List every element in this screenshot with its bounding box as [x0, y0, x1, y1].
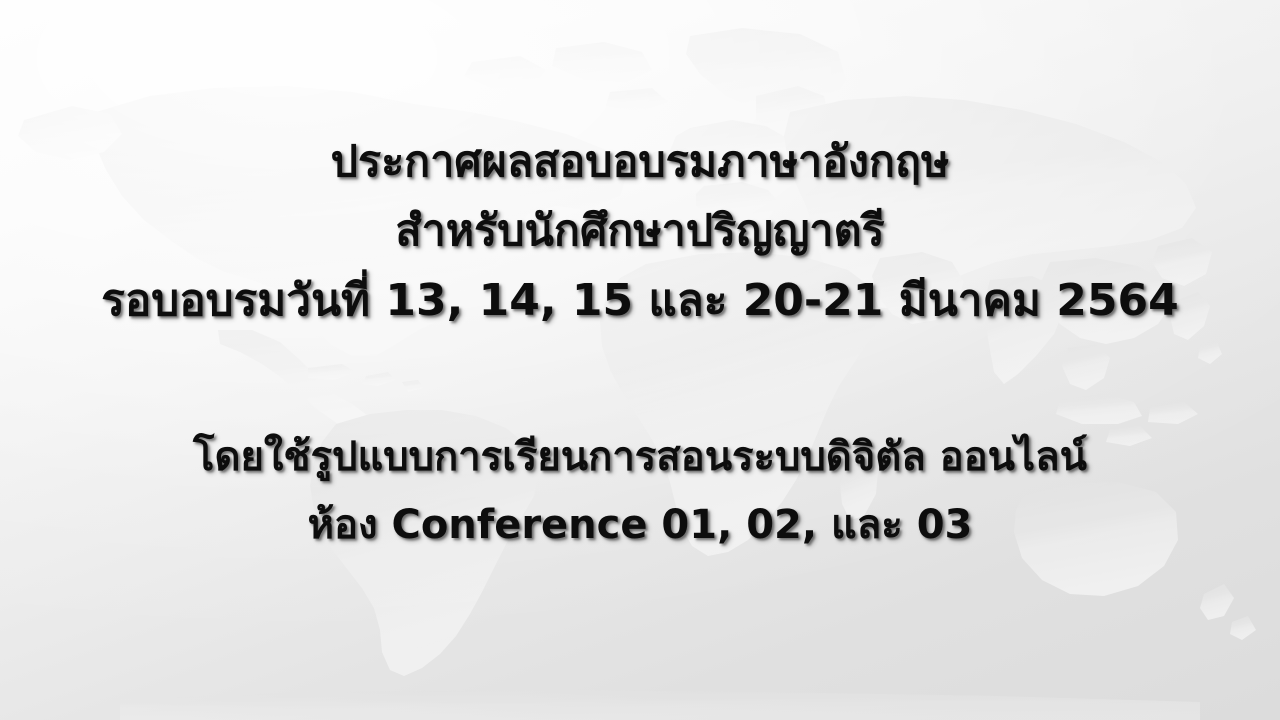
announcement-slide: ประกาศผลสอบอบรมภาษาอังกฤษ สำหรับนักศึกษา… — [0, 0, 1280, 720]
heading-line-1: ประกาศผลสอบอบรมภาษาอังกฤษ — [331, 128, 950, 196]
details-block: โดยใช้รูปแบบการเรียนการสอนระบบดิจิตัล ออ… — [0, 424, 1280, 560]
heading-line-3: รอบอบรมวันที่ 13, 14, 15 และ 20-21 มีนาค… — [101, 266, 1178, 336]
heading-line-2: สำหรับนักศึกษาปริญญาตรี — [395, 196, 884, 266]
heading-block: ประกาศผลสอบอบรมภาษาอังกฤษ สำหรับนักศึกษา… — [0, 128, 1280, 336]
details-line-2: ห้อง Conference 01, 02, และ 03 — [308, 490, 973, 560]
details-line-1: โดยใช้รูปแบบการเรียนการสอนระบบดิจิตัล ออ… — [193, 424, 1087, 490]
slide-text-layer: ประกาศผลสอบอบรมภาษาอังกฤษ สำหรับนักศึกษา… — [0, 0, 1280, 720]
